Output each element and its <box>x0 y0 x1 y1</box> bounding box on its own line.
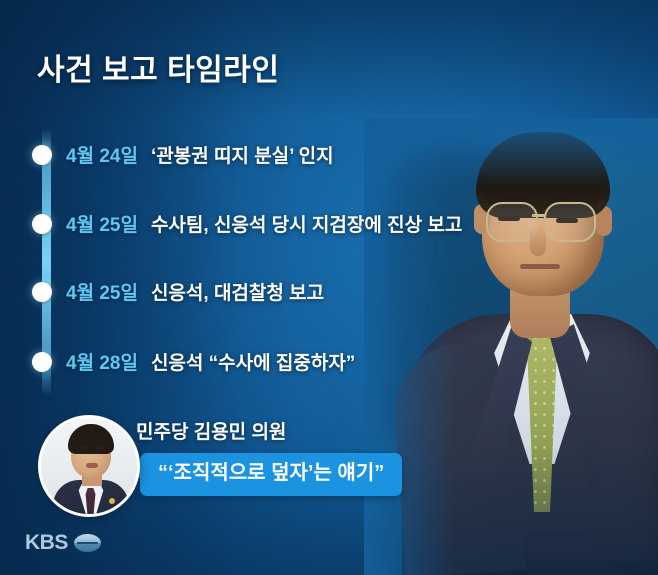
news-graphic-card: 사건 보고 타임라인 4월 24일 ‘관봉권 띠지 분실’ 인지 4월 25일 … <box>0 0 658 575</box>
avatar-eye-right <box>96 446 104 449</box>
timeline-item-text: 수사팀, 신응석 당시 지검장에 진상 보고 <box>151 210 462 237</box>
timeline-dot-icon <box>32 282 52 302</box>
timeline-item: 4월 24일 ‘관봉권 띠지 분실’ 인지 <box>32 141 334 168</box>
timeline-item-date: 4월 25일 <box>66 210 138 237</box>
timeline-item-date: 4월 24일 <box>66 141 138 168</box>
timeline-item: 4월 28일 신응석 “수사에 집중하자” <box>32 348 355 375</box>
avatar-eye-left <box>80 446 88 449</box>
timeline-item-text: 신응석 “수사에 집중하자” <box>151 348 355 375</box>
timeline-item: 4월 25일 신응석, 대검찰청 보고 <box>32 278 324 305</box>
timeline-dot-icon <box>32 352 52 372</box>
timeline-item-text: 신응석, 대검찰청 보고 <box>151 278 324 305</box>
timeline-item-date: 4월 28일 <box>66 348 138 375</box>
avatar-mouth <box>86 463 98 468</box>
speech-bubble: “‘조직적으로 덮자’는 얘기” <box>140 453 402 496</box>
timeline-item: 4월 25일 수사팀, 신응석 당시 지검장에 진상 보고 <box>32 210 462 237</box>
avatar <box>38 415 140 517</box>
avatar-lapel-pin <box>109 498 115 504</box>
timeline-item-text: ‘관봉권 띠지 분실’ 인지 <box>151 141 334 168</box>
timeline-item-date: 4월 25일 <box>66 278 138 305</box>
timeline-dot-icon <box>32 145 52 165</box>
kbs-oval-mark-icon <box>74 534 101 552</box>
kbs-logo: KBS <box>25 531 101 555</box>
speaker-name: 민주당 김용민 의원 <box>136 417 286 444</box>
page-title: 사건 보고 타임라인 <box>37 45 279 89</box>
speaker-quote: “‘조직적으로 덮자’는 얘기” <box>158 461 384 486</box>
kbs-logo-text: KBS <box>25 531 68 555</box>
timeline-dot-icon <box>32 214 52 234</box>
